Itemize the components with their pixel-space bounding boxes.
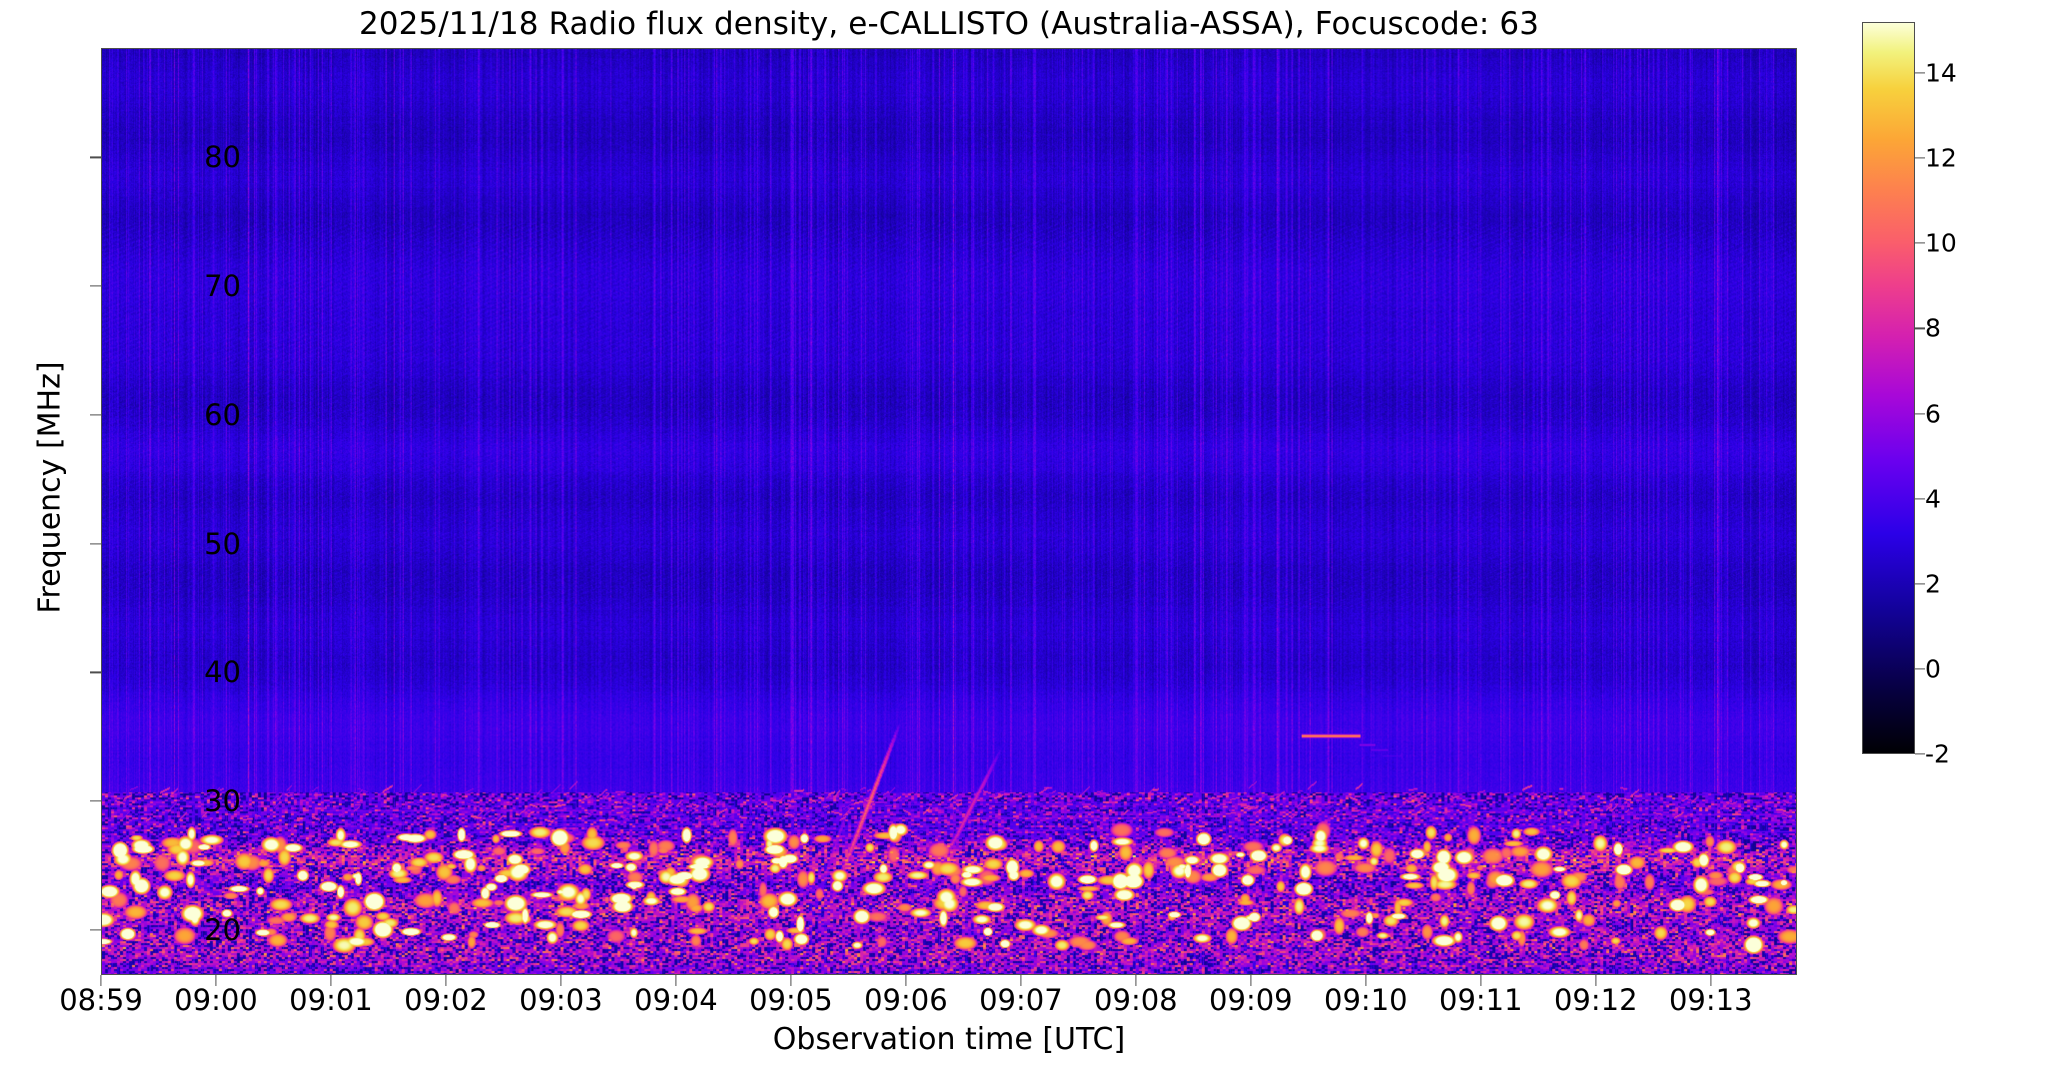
x-axis-tick-label: 09:01: [289, 983, 373, 1017]
colorbar-tick-label: 0: [1925, 654, 1941, 683]
y-axis-tick-mark: [90, 672, 101, 673]
x-axis-tick-mark: [1250, 975, 1251, 986]
y-axis-tick-mark: [90, 414, 101, 415]
x-axis-tick-mark: [1135, 975, 1136, 986]
x-axis-tick-mark: [1480, 975, 1481, 986]
x-axis-tick-label: 09:05: [749, 983, 833, 1017]
x-axis-tick-mark: [790, 975, 791, 986]
colorbar-tick-mark: [1915, 243, 1925, 244]
x-axis-tick-label: 09:13: [1669, 983, 1753, 1017]
spectrogram-figure: 2025/11/18 Radio flux density, e-CALLIST…: [0, 0, 2047, 1067]
x-axis-tick-label: 09:04: [634, 983, 718, 1017]
colorbar-tick-label: 8: [1925, 314, 1941, 343]
x-axis-tick-mark: [1595, 975, 1596, 986]
colorbar-tick-mark: [1915, 498, 1925, 499]
x-axis-tick-label: 09:02: [404, 983, 488, 1017]
colorbar-tick-label: 10: [1925, 229, 1957, 258]
y-axis-tick-mark: [90, 543, 101, 544]
colorbar-tick-label: 6: [1925, 399, 1941, 428]
x-axis-tick-label: 09:06: [864, 983, 948, 1017]
x-axis-tick-label: 09:11: [1439, 983, 1523, 1017]
x-axis-tick-mark: [675, 975, 676, 986]
x-axis-tick-mark: [1710, 975, 1711, 986]
x-axis-tick-mark: [1365, 975, 1366, 986]
colorbar: [1862, 22, 1915, 754]
x-axis-tick-mark: [215, 975, 216, 986]
page-title: 2025/11/18 Radio flux density, e-CALLIST…: [101, 6, 1797, 42]
x-axis-tick-label: 09:07: [979, 983, 1063, 1017]
y-axis-tick-label: 80: [204, 140, 241, 174]
x-axis-tick-mark: [905, 975, 906, 986]
x-axis-tick-mark: [330, 975, 331, 986]
x-axis-tick-mark: [445, 975, 446, 986]
colorbar-tick-mark: [1915, 583, 1925, 584]
x-axis-tick-label: 09:12: [1554, 983, 1638, 1017]
colorbar-tick-label: 2: [1925, 569, 1941, 598]
y-axis-label: Frequency [MHz]: [33, 0, 68, 988]
colorbar-tick-mark: [1915, 753, 1925, 754]
colorbar-tick-mark: [1915, 413, 1925, 414]
y-axis-tick-label: 70: [204, 269, 241, 303]
y-axis-tick-mark: [90, 801, 101, 802]
y-axis-tick-label: 30: [204, 784, 241, 818]
y-axis-tick-label: 50: [204, 527, 241, 561]
colorbar-tick-label: 4: [1925, 484, 1941, 513]
colorbar-tick-mark: [1915, 72, 1925, 73]
colorbar-tick-mark: [1915, 668, 1925, 669]
colorbar-tick-label: -2: [1925, 740, 1950, 769]
y-axis-tick-label: 40: [204, 655, 241, 689]
x-axis-tick-label: 09:00: [174, 983, 258, 1017]
y-axis-tick-mark: [90, 929, 101, 930]
x-axis-tick-label: 09:10: [1324, 983, 1408, 1017]
x-axis-label: Observation time [UTC]: [101, 1022, 1797, 1057]
colorbar-tick-mark: [1915, 158, 1925, 159]
x-axis-tick-mark: [1020, 975, 1021, 986]
x-axis-tick-label: 08:59: [59, 983, 143, 1017]
x-axis-tick-label: 09:09: [1209, 983, 1293, 1017]
colorbar-tick-label: 14: [1925, 59, 1957, 88]
x-axis-tick-label: 09:08: [1094, 983, 1178, 1017]
spectrogram-plot-area: [101, 48, 1797, 975]
y-axis-tick-mark: [90, 286, 101, 287]
x-axis-tick-mark: [100, 975, 101, 986]
y-axis-tick-label: 60: [204, 398, 241, 432]
y-axis-tick-label: 20: [204, 913, 241, 947]
spectrogram-canvas: [102, 49, 1796, 974]
y-axis-tick-mark: [90, 157, 101, 158]
x-axis-tick-mark: [560, 975, 561, 986]
colorbar-tick-mark: [1915, 328, 1925, 329]
x-axis-tick-label: 09:03: [519, 983, 603, 1017]
colorbar-tick-label: 12: [1925, 144, 1957, 173]
